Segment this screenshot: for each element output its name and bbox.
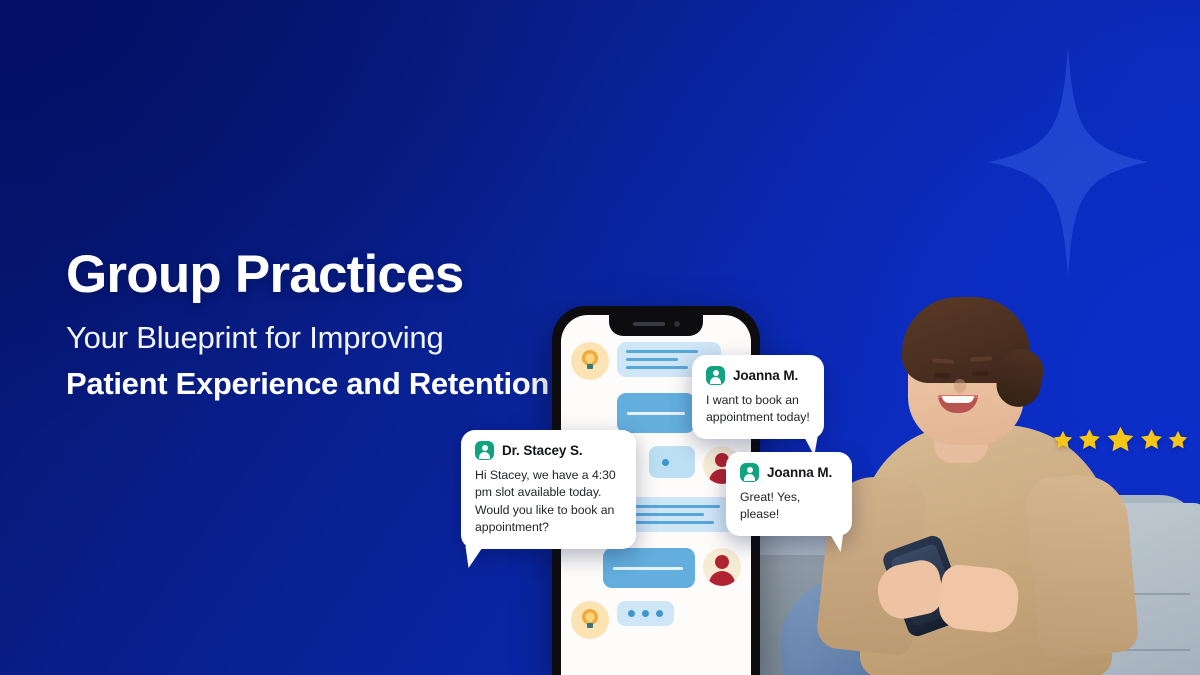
- chat-row: [571, 548, 741, 588]
- user-icon: [703, 548, 741, 586]
- star-icon: [1167, 429, 1189, 451]
- chat-sender-name: Joanna M.: [767, 465, 832, 480]
- star-icon: [1139, 427, 1164, 452]
- marketing-banner: Group Practices Your Blueprint for Impro…: [0, 0, 1200, 675]
- chat-row: [571, 601, 741, 639]
- chat-bubble-joanna-2: Joanna M. Great! Yes, please!: [726, 452, 852, 536]
- star-icon: [1052, 429, 1074, 451]
- chat-message-text: Hi Stacey, we have a 4:30 pm slot availa…: [475, 467, 622, 537]
- chat-bubble-joanna-1: Joanna M. I want to book an appointment …: [692, 355, 824, 439]
- typing-indicator: [617, 601, 674, 626]
- message-placeholder: [649, 446, 695, 478]
- lightbulb-icon: [571, 601, 609, 639]
- chat-message-text: Great! Yes, please!: [740, 489, 838, 524]
- star-icon: [1105, 424, 1136, 455]
- bubble-tail: [827, 533, 844, 552]
- speaker-icon: [633, 322, 665, 326]
- right-hand: [937, 563, 1021, 635]
- right-arm: [1024, 471, 1139, 659]
- phone-notch: [609, 315, 703, 336]
- lightbulb-icon: [571, 342, 609, 380]
- chat-bubble-header: Joanna M.: [740, 463, 838, 482]
- sparkle-icon: [988, 48, 1148, 276]
- teeth: [942, 396, 974, 403]
- chat-sender-name: Dr. Stacey S.: [502, 443, 583, 458]
- star-icon: [1077, 427, 1102, 452]
- camera-icon: [674, 321, 680, 327]
- subtitle-line-2: Patient Experience and Retention: [66, 367, 586, 402]
- nose: [954, 379, 966, 393]
- star-rating: [1052, 424, 1189, 455]
- subtitle-line-1: Your Blueprint for Improving: [66, 321, 586, 356]
- chat-bubble-header: Dr. Stacey S.: [475, 441, 622, 460]
- message-placeholder: [603, 548, 695, 588]
- person-icon: [706, 366, 725, 385]
- bubble-tail: [465, 546, 486, 568]
- person-icon: [475, 441, 494, 460]
- chat-bubble-header: Joanna M.: [706, 366, 810, 385]
- chat-message-text: I want to book an appointment today!: [706, 392, 810, 427]
- page-title: Group Practices: [66, 247, 586, 302]
- chat-bubble-stacey: Dr. Stacey S. Hi Stacey, we have a 4:30 …: [461, 430, 636, 549]
- person-icon: [740, 463, 759, 482]
- chat-sender-name: Joanna M.: [733, 368, 798, 383]
- message-placeholder: [617, 393, 695, 433]
- headline-block: Group Practices Your Blueprint for Impro…: [66, 247, 586, 402]
